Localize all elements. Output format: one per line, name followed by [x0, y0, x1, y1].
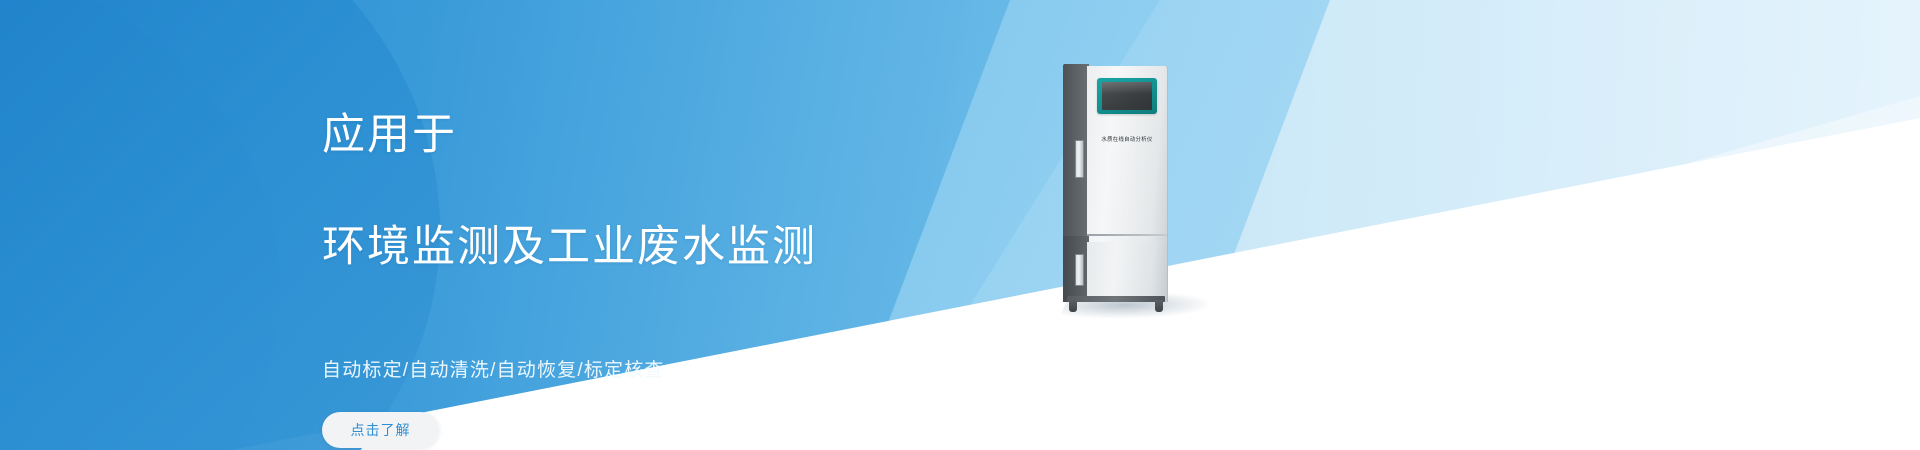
- headline-line-1: 应用于: [322, 108, 1042, 164]
- product-image-water-quality-analyzer: 水质在线自动分析仪: [1063, 64, 1168, 309]
- device-screen-glare: [1102, 82, 1152, 94]
- device-lower-door: [1087, 242, 1168, 302]
- device-display-screen: [1102, 82, 1152, 110]
- learn-more-button[interactable]: 点击了解: [322, 412, 439, 448]
- banner-subtitle: 自动标定/自动清洗/自动恢复/标定核查: [322, 355, 1042, 382]
- device-label-text: 水质在线自动分析仪: [1091, 138, 1163, 143]
- device-door-seam: [1087, 234, 1167, 236]
- device-upper-handle: [1075, 140, 1084, 178]
- device-lower-handle: [1075, 254, 1084, 286]
- page-title: 应用于 环境监测及工业废水监测: [322, 52, 1042, 331]
- device-screen-bezel: [1097, 78, 1157, 114]
- hero-banner: 应用于 环境监测及工业废水监测 自动标定/自动清洗/自动恢复/标定核查 点击了解…: [0, 0, 1920, 450]
- banner-content: 应用于 环境监测及工业废水监测 自动标定/自动清洗/自动恢复/标定核查 点击了解: [322, 52, 1042, 448]
- device-foot-right: [1155, 300, 1163, 312]
- headline-line-2: 环境监测及工业废水监测: [322, 220, 1042, 276]
- device-foot-left: [1069, 300, 1077, 312]
- device-base-bar: [1067, 296, 1165, 302]
